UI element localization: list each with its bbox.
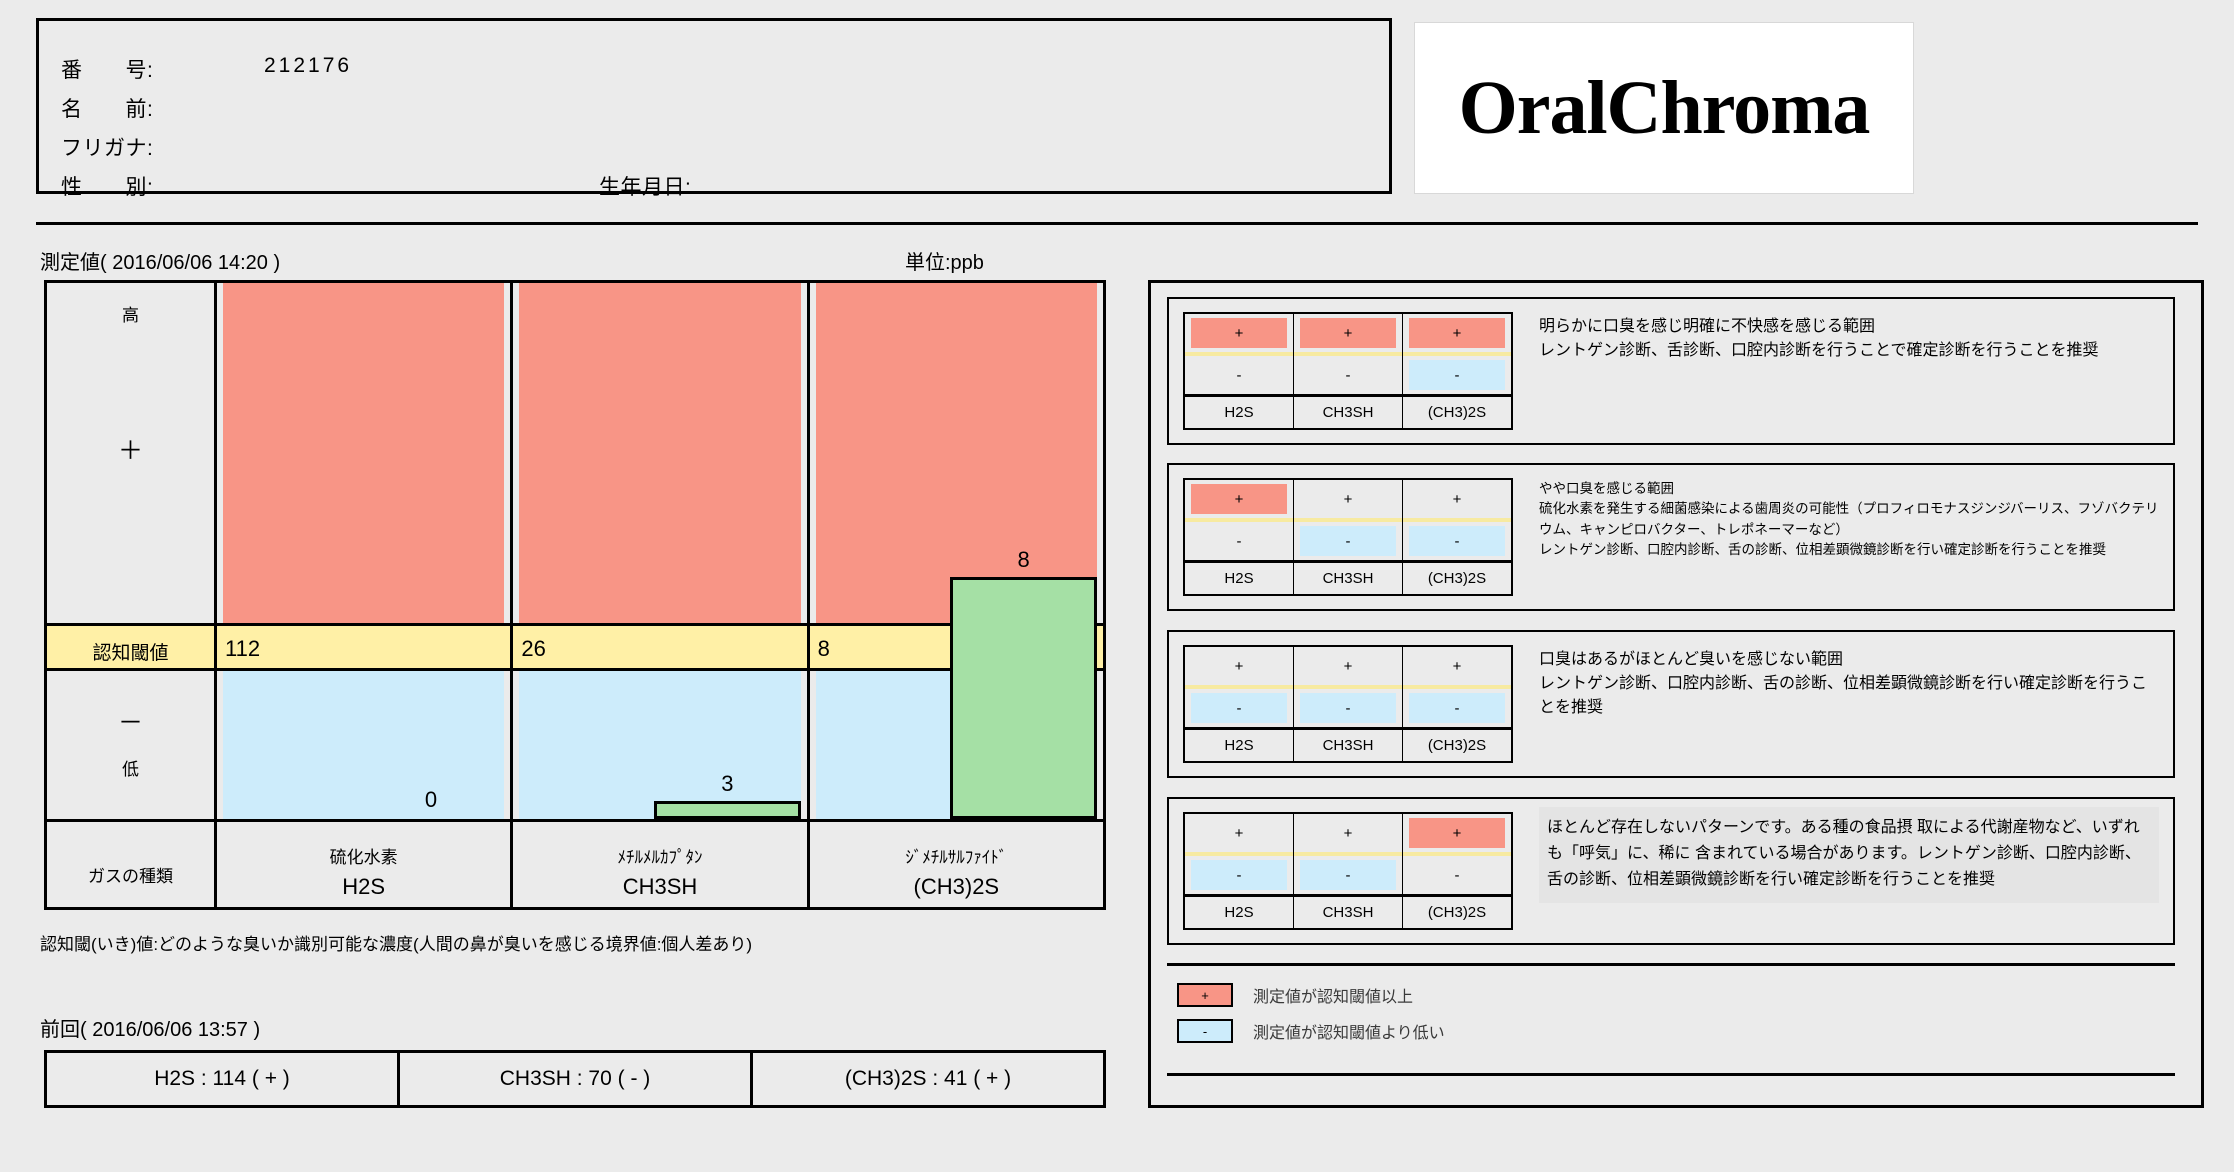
pattern-minus-cell: -	[1403, 522, 1511, 560]
pattern-plus-symbol: +	[1453, 325, 1462, 342]
gas-column-(CH3)2S: 88ｼﾞﾒﾁﾙｻﾙﾌｧｲﾄﾞ(CH3)2S	[810, 283, 1103, 907]
pattern-minus-cell: -	[1294, 689, 1402, 727]
pattern-col-(CH3)2S: +-(CH3)2S	[1403, 314, 1511, 428]
pattern-minus-symbol: -	[1346, 533, 1351, 550]
patient-field-label-gender: 性 別:	[61, 171, 153, 201]
pattern-gas-label: CH3SH	[1294, 730, 1402, 761]
pattern-plus-symbol: +	[1235, 491, 1244, 508]
pattern-description: ほとんど存在しないパターンです。ある種の食品摂 取による代謝産物など、いずれも「…	[1539, 807, 2159, 903]
pattern-minus-cell: -	[1185, 689, 1293, 727]
pattern-plus-symbol: +	[1344, 825, 1353, 842]
pattern-plus-symbol: +	[1453, 491, 1462, 508]
pattern-minus-cell: -	[1403, 856, 1511, 894]
pattern-minus-symbol: -	[1237, 700, 1242, 717]
pattern-plus-symbol: +	[1453, 658, 1462, 675]
pattern-minus-cell: -	[1185, 522, 1293, 560]
value-label-(CH3)2S: 8	[950, 547, 1097, 573]
pattern-gas-label: H2S	[1185, 730, 1293, 761]
value-bar-CH3SH	[654, 801, 801, 819]
pattern-minus-cell: -	[1403, 689, 1511, 727]
header-divider	[36, 222, 2198, 225]
legend-divider-bottom	[1167, 1073, 2175, 1076]
pattern-col-CH3SH: +-CH3SH	[1294, 314, 1403, 428]
pattern-minus-cell: -	[1294, 856, 1402, 894]
gas-name-jp: ﾒﾁﾙﾒﾙｶﾌﾟﾀﾝ	[617, 848, 702, 867]
pattern-description: やや口臭を感じる範囲硫化水素を発生する細菌感染による歯周炎の可能性（プロフィロモ…	[1539, 465, 2159, 560]
pattern-plus-cell: +	[1185, 314, 1293, 352]
pattern-minus-symbol: -	[1346, 700, 1351, 717]
gas-name-cell-H2S: 硫化水素H2S	[217, 819, 510, 907]
previous-value-cell: H2S : 114 ( + )	[47, 1053, 400, 1105]
gas-formula: CH3SH	[623, 874, 698, 899]
pattern-plus-symbol: +	[1453, 825, 1462, 842]
pattern-plus-symbol: +	[1344, 658, 1353, 675]
axis-label-low: 低	[47, 755, 214, 780]
value-label-H2S: 0	[358, 787, 505, 813]
pattern-col-(CH3)2S: +-(CH3)2S	[1403, 647, 1511, 761]
patient-field-label-name: 名 前:	[61, 93, 153, 123]
legend-text: 測定値が認知閾値以上	[1253, 983, 1413, 1007]
patient-info-box: 番 号: 212176 名 前: フリガナ: 性 別: 生年月日:	[36, 18, 1392, 194]
pattern-block-2: +-H2S+-CH3SH+-(CH3)2Sやや口臭を感じる範囲硫化水素を発生する…	[1167, 463, 2175, 611]
pattern-col-CH3SH: +-CH3SH	[1294, 647, 1403, 761]
pattern-description: 口臭はあるがほとんど臭いを感じない範囲レントゲン診断、口腔内診断、舌の診断、位相…	[1539, 632, 2159, 720]
pattern-gas-label: CH3SH	[1294, 397, 1402, 428]
pattern-gas-label: H2S	[1185, 397, 1293, 428]
axis-label-high: 高	[47, 301, 214, 326]
pattern-plus-symbol: +	[1344, 491, 1353, 508]
pattern-gas-label: (CH3)2S	[1403, 397, 1511, 428]
pattern-col-H2S: +-H2S	[1185, 647, 1294, 761]
unit-label: 単位:ppb	[905, 246, 984, 275]
value-label-CH3SH: 3	[654, 771, 801, 797]
pattern-col-H2S: +-H2S	[1185, 314, 1294, 428]
above-threshold-band	[513, 283, 806, 623]
pattern-col-H2S: +-H2S	[1185, 814, 1294, 928]
pattern-minus-symbol: -	[1237, 367, 1242, 384]
pattern-guide-panel: +-H2S+-CH3SH+-(CH3)2S明らかに口臭を感じ明確に不快感を感じる…	[1148, 280, 2204, 1108]
pattern-plus-cell: +	[1185, 480, 1293, 518]
pattern-mini-table: +-H2S+-CH3SH+-(CH3)2S	[1183, 312, 1513, 430]
legend-divider-top	[1167, 963, 2175, 966]
pattern-minus-cell: -	[1185, 356, 1293, 394]
pattern-minus-symbol: -	[1346, 367, 1351, 384]
threshold-value-CH3SH: 26	[521, 636, 545, 662]
logo-text: OralChroma	[1459, 65, 1870, 152]
pattern-minus-cell: -	[1294, 522, 1402, 560]
legend-swatch: -	[1177, 1019, 1233, 1043]
pattern-block-1: +-H2S+-CH3SH+-(CH3)2S明らかに口臭を感じ明確に不快感を感じる…	[1167, 297, 2175, 445]
axis-label-threshold: 認知閾値	[47, 638, 214, 665]
value-bar-(CH3)2S	[950, 577, 1097, 819]
axis-label-plus: ＋	[47, 431, 214, 467]
pattern-minus-symbol: -	[1455, 533, 1460, 550]
pattern-minus-cell: -	[1403, 356, 1511, 394]
pattern-block-4: +-H2S+-CH3SH+-(CH3)2Sほとんど存在しないパターンです。ある種…	[1167, 797, 2175, 945]
gas-formula: H2S	[342, 874, 385, 899]
patient-field-label-number: 番 号:	[61, 54, 153, 84]
previous-title: 前回( 2016/06/06 13:57 )	[40, 1013, 260, 1042]
pattern-minus-symbol: -	[1346, 867, 1351, 884]
pattern-plus-cell: +	[1185, 647, 1293, 685]
pattern-col-(CH3)2S: +-(CH3)2S	[1403, 814, 1511, 928]
pattern-mini-table: +-H2S+-CH3SH+-(CH3)2S	[1183, 812, 1513, 930]
legend-row: -測定値が認知閾値より低い	[1177, 1019, 1445, 1043]
legend-swatch: +	[1177, 983, 1233, 1007]
gas-name-cell-(CH3)2S: ｼﾞﾒﾁﾙｻﾙﾌｧｲﾄﾞ(CH3)2S	[810, 819, 1103, 907]
chart-gas-columns: 1120硫化水素H2S263ﾒﾁﾙﾒﾙｶﾌﾟﾀﾝCH3SH88ｼﾞﾒﾁﾙｻﾙﾌｧ…	[217, 283, 1103, 907]
axis-label-gas-kind: ガスの種類	[47, 862, 214, 887]
pattern-plus-cell: +	[1403, 647, 1511, 685]
oralchroma-logo: OralChroma	[1414, 22, 1914, 194]
pattern-gas-label: (CH3)2S	[1403, 897, 1511, 928]
pattern-plus-symbol: +	[1235, 658, 1244, 675]
pattern-plus-cell: +	[1403, 814, 1511, 852]
pattern-plus-cell: +	[1403, 314, 1511, 352]
pattern-gas-label: (CH3)2S	[1403, 730, 1511, 761]
pattern-plus-cell: +	[1294, 814, 1402, 852]
pattern-gas-label: (CH3)2S	[1403, 563, 1511, 594]
pattern-col-H2S: +-H2S	[1185, 480, 1294, 594]
previous-value-cell: CH3SH : 70 ( - )	[400, 1053, 753, 1105]
pattern-col-CH3SH: +-CH3SH	[1294, 814, 1403, 928]
threshold-band: 112	[217, 623, 510, 671]
threshold-value-H2S: 112	[225, 636, 260, 662]
pattern-plus-symbol: +	[1235, 825, 1244, 842]
previous-value-cell: (CH3)2S : 41 ( + )	[753, 1053, 1103, 1105]
pattern-col-CH3SH: +-CH3SH	[1294, 480, 1403, 594]
gas-name-cell-CH3SH: ﾒﾁﾙﾒﾙｶﾌﾟﾀﾝCH3SH	[513, 819, 806, 907]
pattern-mini-table: +-H2S+-CH3SH+-(CH3)2S	[1183, 478, 1513, 596]
pattern-plus-cell: +	[1294, 480, 1402, 518]
gas-formula: (CH3)2S	[914, 874, 1000, 899]
pattern-minus-symbol: -	[1455, 867, 1460, 884]
pattern-minus-cell: -	[1294, 356, 1402, 394]
pattern-gas-label: H2S	[1185, 563, 1293, 594]
previous-values-row: H2S : 114 ( + )CH3SH : 70 ( - )(CH3)2S :…	[44, 1050, 1106, 1108]
patient-field-label-furigana: フリガナ:	[61, 132, 153, 162]
pattern-block-3: +-H2S+-CH3SH+-(CH3)2S口臭はあるがほとんど臭いを感じない範囲…	[1167, 630, 2175, 778]
patient-field-label-dob: 生年月日:	[599, 171, 691, 201]
pattern-minus-symbol: -	[1237, 867, 1242, 884]
pattern-plus-symbol: +	[1235, 325, 1244, 342]
axis-kind-cell: ガスの種類	[47, 819, 214, 907]
axis-label-minus: －	[47, 703, 214, 739]
axis-threshold-band: 認知閾値	[47, 623, 214, 671]
axis-high-band: 高 ＋	[47, 283, 214, 623]
pattern-gas-label: H2S	[1185, 897, 1293, 928]
report-page: 番 号: 212176 名 前: フリガナ: 性 別: 生年月日: OralCh…	[0, 0, 2234, 1172]
pattern-minus-symbol: -	[1455, 367, 1460, 384]
pattern-minus-symbol: -	[1237, 533, 1242, 550]
pattern-gas-label: CH3SH	[1294, 897, 1402, 928]
gas-name-jp: ｼﾞﾒﾁﾙｻﾙﾌｧｲﾄﾞ	[905, 848, 1007, 867]
chart-axis-column: 高 ＋ 認知閾値 － 低 ガスの種類	[47, 283, 217, 907]
pattern-minus-symbol: -	[1455, 700, 1460, 717]
measurement-title: 測定値( 2016/06/06 14:20 )	[40, 246, 280, 275]
axis-low-band: － 低	[47, 671, 214, 819]
pattern-minus-cell: -	[1185, 856, 1293, 894]
pattern-description: 明らかに口臭を感じ明確に不快感を感じる範囲レントゲン診断、舌診断、口腔内診断を行…	[1539, 299, 2159, 363]
measurement-chart: 高 ＋ 認知閾値 － 低 ガスの種類 1120硫化水素H2S263ﾒﾁﾙﾒﾙｶﾌ…	[44, 280, 1106, 910]
pattern-gas-label: CH3SH	[1294, 563, 1402, 594]
gas-column-H2S: 1120硫化水素H2S	[217, 283, 513, 907]
gas-column-CH3SH: 263ﾒﾁﾙﾒﾙｶﾌﾟﾀﾝCH3SH	[513, 283, 809, 907]
patient-field-value-number: 212176	[264, 54, 352, 78]
threshold-footnote: 認知閾(いき)値:どのような臭いか識別可能な濃度(人間の鼻が臭いを感じる境界値:…	[40, 930, 752, 955]
pattern-plus-cell: +	[1185, 814, 1293, 852]
threshold-band: 26	[513, 623, 806, 671]
pattern-col-(CH3)2S: +-(CH3)2S	[1403, 480, 1511, 594]
pattern-plus-cell: +	[1403, 480, 1511, 518]
pattern-plus-cell: +	[1294, 314, 1402, 352]
threshold-value-(CH3)2S: 8	[818, 636, 830, 662]
pattern-mini-table: +-H2S+-CH3SH+-(CH3)2S	[1183, 645, 1513, 763]
pattern-plus-symbol: +	[1344, 325, 1353, 342]
gas-name-jp: 硫化水素	[330, 848, 398, 867]
above-threshold-band	[217, 283, 510, 623]
legend-text: 測定値が認知閾値より低い	[1253, 1019, 1445, 1043]
pattern-plus-cell: +	[1294, 647, 1402, 685]
legend-row: +測定値が認知閾値以上	[1177, 983, 1413, 1007]
